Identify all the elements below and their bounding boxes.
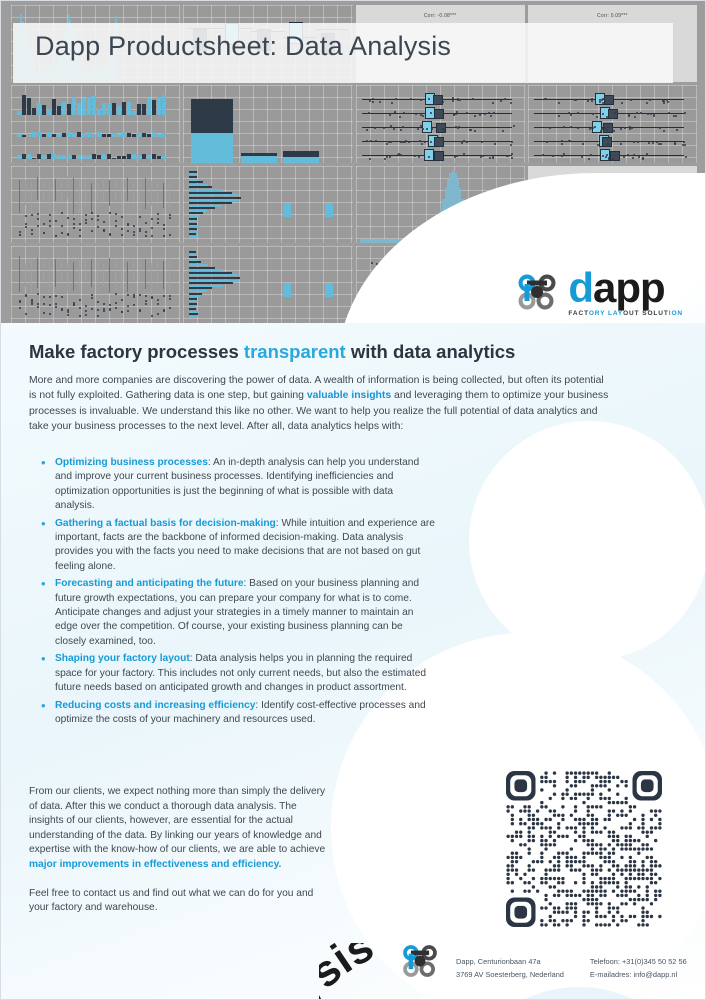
- histogram-bar: [77, 155, 81, 159]
- scatter-dot: [115, 293, 117, 295]
- strip-line: [127, 262, 128, 292]
- benefit-item-lead: Reducing costs and increasing efficiency: [55, 700, 255, 711]
- strip-line: [25, 263, 26, 286]
- histogram-bar: [137, 104, 141, 114]
- strip-line: [79, 180, 80, 212]
- strip-line: [61, 257, 62, 285]
- scatter-dot: [79, 315, 81, 317]
- scatter-dot: [403, 112, 405, 114]
- histogram-bar: [162, 156, 166, 158]
- histogram-bar: [32, 108, 36, 114]
- strip-line: [151, 263, 152, 294]
- benefit-item-lead: Forecasting and anticipating the future: [55, 578, 243, 589]
- strip-line: [19, 256, 20, 291]
- strip-line: [133, 183, 134, 210]
- scatter-dot: [115, 302, 117, 304]
- strip-line: [67, 176, 68, 199]
- histogram-bar: [52, 99, 56, 115]
- strip-line: [109, 180, 110, 206]
- histogram-bar: [92, 96, 96, 114]
- histogram-bar: [57, 134, 61, 137]
- scatter-dot: [594, 126, 596, 128]
- footer-phone[interactable]: Telefoon: +31(0)345 50 52 56: [590, 955, 687, 968]
- strip-line: [85, 258, 86, 284]
- scatter-dot: [577, 112, 579, 114]
- scatter-dot: [372, 98, 374, 100]
- chart-panel: [183, 166, 352, 243]
- histogram-bar: [82, 98, 86, 114]
- scatter-dot: [37, 225, 39, 227]
- scatter-dot: [602, 98, 604, 100]
- histogram-bar: [37, 132, 41, 136]
- scatter-dot: [685, 156, 687, 158]
- scatter-dot: [79, 307, 81, 309]
- strip-line: [103, 177, 104, 202]
- stacked-bar-light: [191, 133, 233, 163]
- intro-highlight: valuable insights: [307, 390, 391, 401]
- histogram-bar: [17, 111, 21, 115]
- outro-highlight: major improvements in effectiveness and …: [29, 859, 281, 870]
- histogram-bar: [17, 155, 21, 159]
- decorative-circle-small: [469, 421, 706, 661]
- scatter-dot: [127, 230, 129, 232]
- strip-line: [79, 257, 80, 288]
- histogram-bar: [132, 154, 136, 158]
- section-heading: Make factory processes transparent with …: [29, 341, 515, 363]
- scatter-dot: [103, 229, 105, 231]
- scatter-dot: [546, 141, 548, 143]
- scatter-dot: [157, 222, 159, 224]
- histogram-bar: [102, 103, 106, 114]
- strip-line: [97, 257, 98, 291]
- scatter-dot: [648, 142, 650, 144]
- histogram-bar: [87, 155, 91, 158]
- density-row: [283, 203, 291, 217]
- benefit-item-lead: Shaping your factory layout: [55, 653, 190, 664]
- scatter-dot: [510, 144, 512, 146]
- scatter-dot: [588, 158, 590, 160]
- heading-accent-word: transparent: [244, 341, 346, 362]
- histogram-bar: [22, 95, 26, 114]
- scatter-dot: [369, 158, 371, 160]
- scatter-dot: [103, 310, 105, 312]
- histogram-bar: [27, 154, 31, 158]
- scatter-dot: [55, 235, 57, 237]
- scatter-dot: [621, 102, 623, 104]
- histogram-bar: [127, 154, 131, 159]
- scatter-dot: [55, 306, 57, 308]
- histogram-bar: [112, 133, 116, 136]
- scatter-dot: [43, 312, 45, 314]
- scatter-dot: [79, 235, 81, 237]
- histogram-bar: [122, 132, 126, 137]
- scatter-dot: [642, 158, 644, 160]
- strip-line: [61, 177, 62, 202]
- benefit-item: Forecasting and anticipating the future:…: [35, 577, 435, 649]
- scatter-dot: [139, 216, 141, 218]
- scatter-dot: [620, 143, 622, 145]
- chart-panel: [528, 85, 697, 162]
- benefits-list: Optimizing business processes: An in-dep…: [35, 456, 435, 730]
- scatter-dot: [684, 112, 686, 114]
- scatter-dot: [474, 115, 476, 117]
- scatter-dot: [683, 141, 685, 143]
- tagline-seg-4: ION: [669, 310, 683, 317]
- scatter-dot: [139, 294, 141, 296]
- histogram-bar: [42, 134, 46, 137]
- histogram-bar: [47, 132, 51, 136]
- scatter-dot: [115, 213, 117, 215]
- scatter-dot: [684, 144, 686, 146]
- scatter-dot: [67, 309, 69, 311]
- strip-line: [73, 262, 74, 291]
- scatter-dot: [366, 129, 368, 131]
- scatter-dot: [157, 313, 159, 315]
- density-row: [189, 236, 198, 238]
- scatter-dot: [638, 156, 640, 158]
- scatter-dot: [582, 143, 584, 145]
- scatter-dot: [414, 155, 416, 157]
- scatter-dot: [109, 234, 111, 236]
- scatter-dot: [37, 293, 39, 295]
- histogram-bar: [67, 132, 71, 137]
- scatter-dot: [145, 295, 147, 297]
- strip-line: [85, 180, 86, 208]
- scatter-dot: [127, 310, 129, 312]
- scatter-dot: [552, 155, 554, 157]
- histogram-bar: [117, 156, 121, 159]
- scatter-dot: [389, 156, 391, 158]
- histogram-bar: [147, 134, 151, 137]
- histogram-bar: [52, 134, 56, 137]
- logo-letters-app: app: [593, 264, 665, 311]
- benefit-item-lead: Gathering a factual basis for decision-m…: [55, 518, 276, 529]
- histogram-bar: [112, 103, 116, 114]
- scatter-dot: [399, 116, 401, 118]
- strip-line: [55, 179, 56, 202]
- brand-logo: dapp FACTORY LAYOUT SOLUTION: [514, 267, 683, 317]
- scatter-dot: [370, 140, 372, 142]
- chart-panel: [11, 246, 180, 323]
- scatter-dot: [630, 99, 632, 101]
- scatter-dot: [489, 157, 491, 159]
- histogram-bar: [117, 134, 121, 136]
- scatter-dot: [591, 98, 593, 100]
- scatter-dot: [43, 223, 45, 225]
- scatter-dot: [163, 295, 165, 297]
- scatter-dot: [127, 305, 129, 307]
- scatter-dot: [542, 154, 544, 156]
- scatter-dot: [558, 115, 560, 117]
- scatter-dot: [682, 144, 684, 146]
- chart-panel: [183, 85, 352, 162]
- scatter-dot: [151, 218, 153, 220]
- scatter-dot: [629, 128, 631, 130]
- intro-paragraph: More and more companies are discovering …: [29, 373, 609, 435]
- strip-line: [121, 180, 122, 215]
- scatter-dot: [145, 303, 147, 305]
- scatter-dot: [121, 216, 123, 218]
- footer-logo-icon: [399, 941, 441, 981]
- strip-line: [145, 178, 146, 210]
- scatter-dot: [85, 310, 87, 312]
- stacked-bar-light: [241, 156, 277, 163]
- tagline-seg-2: ORY LAY: [589, 310, 623, 317]
- box-rect: [610, 151, 620, 161]
- scatter-dot: [73, 218, 75, 220]
- histogram-bar: [107, 134, 111, 136]
- scatter-dot: [169, 307, 171, 309]
- strip-line: [163, 261, 164, 289]
- scatter-dot: [422, 128, 424, 130]
- box-rect: [604, 95, 614, 105]
- histogram-bar: [17, 134, 21, 136]
- scatter-dot: [19, 234, 21, 236]
- scatter-dot: [455, 113, 457, 115]
- scatter-dot: [19, 307, 21, 309]
- strip-line: [139, 181, 140, 216]
- footer-email[interactable]: E-mailadres: info@dapp.nl: [590, 968, 687, 981]
- scatter-dot: [127, 294, 129, 296]
- scatter-dot: [371, 262, 373, 264]
- scatter-dot: [656, 141, 658, 143]
- histogram-bar: [157, 97, 161, 115]
- scatter-dot: [31, 303, 33, 305]
- scatter-dot: [73, 227, 75, 229]
- scatter-dot: [601, 128, 603, 130]
- histogram-bar: [152, 132, 156, 137]
- strip-line: [115, 177, 116, 204]
- strip-line: [103, 264, 104, 288]
- scatter-dot: [139, 230, 141, 232]
- scatter-dot: [613, 130, 615, 132]
- scatter-dot: [563, 126, 565, 128]
- scatter-dot: [570, 114, 572, 116]
- chart-panel: [183, 246, 352, 323]
- scatter-dot: [653, 115, 655, 117]
- strip-line: [151, 181, 152, 206]
- scatter-dot: [91, 230, 93, 232]
- histogram-bar: [157, 134, 161, 136]
- box-rect: [434, 151, 444, 161]
- histogram-bar: [62, 155, 66, 158]
- histogram-bar: [62, 102, 66, 115]
- scatter-dot: [49, 214, 51, 216]
- scatter-dot: [379, 101, 381, 103]
- scatter-dot: [650, 113, 652, 115]
- histogram-bar: [77, 132, 81, 136]
- scatter-dot: [490, 115, 492, 117]
- footer-address-line2: 3769 AV Soesterberg, Nederland: [456, 968, 564, 981]
- scatter-dot: [115, 225, 117, 227]
- scatter-dot: [169, 234, 171, 236]
- scatter-dot: [25, 226, 27, 228]
- scatter-dot: [632, 157, 634, 159]
- scatter-dot: [133, 304, 135, 306]
- histogram-bar: [67, 104, 71, 115]
- benefit-item-lead: Optimizing business processes: [55, 457, 208, 468]
- qr-code-canvas[interactable]: [506, 771, 662, 949]
- scatter-dot: [400, 141, 402, 143]
- histogram-bar: [147, 98, 151, 115]
- histogram-bar: [32, 132, 36, 136]
- scatter-dot: [484, 113, 486, 115]
- scatter-dot: [602, 102, 604, 104]
- scatter-dot: [502, 130, 504, 132]
- scatter-dot: [109, 304, 111, 306]
- heading-part-1: Make factory processes: [29, 341, 244, 362]
- histogram-bar: [42, 155, 46, 159]
- scatter-dot: [372, 101, 374, 103]
- scatter-dot: [97, 301, 99, 303]
- histogram-bar: [92, 154, 96, 158]
- scatter-dot: [513, 125, 515, 127]
- scatter-dot: [600, 130, 602, 132]
- scatter-dot: [570, 126, 572, 128]
- strip-line: [55, 259, 56, 287]
- scatter-dot: [510, 102, 512, 104]
- scatter-dot: [660, 143, 662, 145]
- scatter-dot: [608, 158, 610, 160]
- scatter-dot: [91, 212, 93, 214]
- outro-paragraph-1: From our clients, we expect nothing more…: [29, 785, 334, 873]
- scatter-dot: [454, 156, 456, 158]
- scatter-dot: [157, 213, 159, 215]
- scatter-dot: [67, 217, 69, 219]
- scatter-dot: [79, 229, 81, 231]
- qr-code[interactable]: [506, 771, 662, 949]
- scatter-dot: [400, 154, 402, 156]
- histogram-bar: [87, 132, 91, 137]
- scatter-dot: [606, 129, 608, 131]
- histogram-bar: [107, 154, 111, 158]
- scatter-dot: [49, 296, 51, 298]
- scatter-dot: [31, 233, 33, 235]
- scatter-dot: [558, 102, 560, 104]
- histogram-bar: [92, 135, 96, 136]
- histogram-bar: [22, 135, 26, 136]
- histogram-bar: [97, 109, 101, 115]
- chart-panel: [11, 166, 180, 243]
- main-content: Make factory processes transparent with …: [1, 323, 706, 1000]
- histogram-bar: [117, 106, 121, 115]
- histogram-bar: [102, 134, 106, 137]
- scatter-dot: [668, 112, 670, 114]
- histogram-bar: [47, 154, 51, 159]
- scatter-dot: [151, 227, 153, 229]
- scatter-dot: [37, 218, 39, 220]
- strip-line: [133, 256, 134, 280]
- strip-line: [127, 178, 128, 201]
- scatter-dot: [452, 98, 454, 100]
- strip-line: [109, 258, 110, 294]
- benefit-item: Shaping your factory layout: Data analys…: [35, 652, 435, 695]
- outro-block: From our clients, we expect nothing more…: [29, 785, 334, 916]
- histogram-bar: [32, 158, 36, 159]
- scatter-dot: [169, 214, 171, 216]
- strip-line: [139, 259, 140, 283]
- scatter-dot: [658, 143, 660, 145]
- scatter-dot: [666, 99, 668, 101]
- scatter-dot: [85, 222, 87, 224]
- histogram-bar: [112, 158, 116, 159]
- strip-line: [97, 183, 98, 209]
- strip-line: [73, 178, 74, 213]
- strip-line: [49, 257, 50, 291]
- strip-line: [31, 260, 32, 293]
- scatter-dot: [624, 127, 626, 129]
- scatter-dot: [79, 223, 81, 225]
- strip-line: [91, 183, 92, 214]
- scatter-dot: [109, 212, 111, 214]
- scatter-dot: [73, 223, 75, 225]
- scatter-dot: [474, 130, 476, 132]
- density-row: [189, 316, 195, 318]
- histogram-bar: [97, 155, 101, 159]
- scatter-dot: [421, 143, 423, 145]
- scatter-dot: [386, 143, 388, 145]
- histogram-bar: [162, 133, 166, 137]
- histogram-bar: [122, 156, 126, 159]
- scatter-dot: [383, 127, 385, 129]
- scatter-dot: [663, 102, 665, 104]
- histogram-bar: [102, 154, 106, 158]
- scatter-dot: [500, 100, 502, 102]
- scatter-dot: [157, 303, 159, 305]
- logo-letter-d: d: [568, 264, 593, 311]
- scatter-dot: [633, 141, 635, 143]
- histogram-bar: [132, 111, 136, 115]
- histogram-bar: [132, 134, 136, 136]
- histogram-bar: [82, 133, 86, 137]
- scatter-dot: [43, 296, 45, 298]
- histogram-bar: [72, 155, 76, 158]
- scatter-dot: [634, 116, 636, 118]
- scatter-dot: [667, 101, 669, 103]
- scatter-dot: [85, 305, 87, 307]
- scatter-dot: [37, 213, 39, 215]
- scatter-dot: [163, 224, 165, 226]
- histogram-bar: [52, 154, 56, 158]
- scatter-dot: [115, 220, 117, 222]
- scatter-dot: [49, 220, 51, 222]
- histogram-bar: [22, 154, 26, 159]
- scatter-dot: [169, 217, 171, 219]
- scatter-dot: [676, 129, 678, 131]
- heading-part-2: with data analytics: [346, 341, 516, 362]
- footer-contact-details: Telefoon: +31(0)345 50 52 56 E-mailadres…: [590, 955, 687, 981]
- scatter-dot: [561, 155, 563, 157]
- scatter-dot: [49, 225, 51, 227]
- histogram-bar: [157, 156, 161, 158]
- strip-line: [169, 258, 170, 293]
- histogram-bar: [67, 155, 71, 159]
- chart-panel: [356, 85, 525, 162]
- scatter-dot: [97, 226, 99, 228]
- scatter-dot: [647, 113, 649, 115]
- histogram-bar: [62, 133, 66, 136]
- histogram-bar: [72, 133, 76, 136]
- scatter-dot: [549, 127, 551, 129]
- scatter-dot: [393, 128, 395, 130]
- scatter-dot: [459, 99, 461, 101]
- scatter-dot: [511, 153, 513, 155]
- scatter-dot: [575, 99, 577, 101]
- histogram-bar: [152, 154, 156, 158]
- scatter-dot: [61, 225, 63, 227]
- scatter-dot: [420, 99, 422, 101]
- scatter-dot: [145, 300, 147, 302]
